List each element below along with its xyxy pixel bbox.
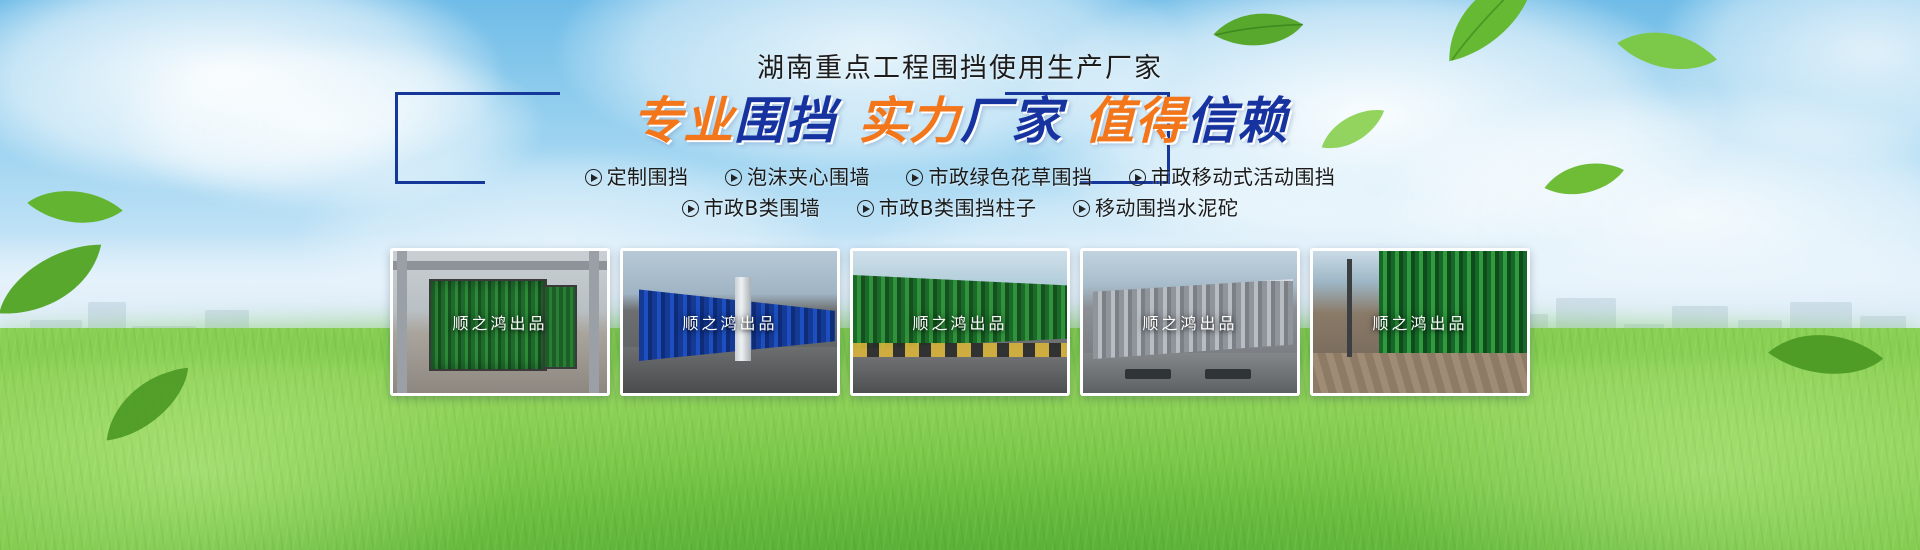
product-photo[interactable]: 顺之鸿出品 bbox=[1080, 248, 1300, 396]
feature-label: 泡沫夹心围墙 bbox=[747, 165, 870, 189]
photo-detail bbox=[735, 277, 751, 361]
product-photo[interactable]: 顺之鸿出品 bbox=[1310, 248, 1530, 396]
photo-detail bbox=[1125, 369, 1171, 379]
play-arrow-icon bbox=[857, 200, 874, 217]
headline-block: 湖南重点工程围挡使用生产厂家 专业围挡实力厂家值得信赖 定制围挡 泡沫夹心围墙 … bbox=[0, 40, 1920, 224]
photo-detail bbox=[589, 251, 599, 393]
play-arrow-icon bbox=[906, 169, 923, 186]
headline-segment-1: 专业 bbox=[632, 92, 734, 150]
product-photo[interactable]: 顺之鸿出品 bbox=[620, 248, 840, 396]
feature-label: 定制围挡 bbox=[607, 165, 689, 189]
photo-detail bbox=[1379, 251, 1527, 367]
feature-item[interactable]: 泡沫夹心围墙 bbox=[725, 162, 870, 193]
photo-detail bbox=[543, 285, 577, 369]
headline-segment-5: 值得 bbox=[1084, 92, 1186, 150]
feature-item[interactable]: 定制围挡 bbox=[585, 162, 689, 193]
product-photo-strip: 顺之鸿出品 顺之鸿出品 顺之鸿出品 顺之鸿出品 顺之鸿出品 bbox=[0, 248, 1920, 396]
feature-item[interactable]: 移动围挡水泥砣 bbox=[1073, 193, 1239, 224]
headline-segment-3: 实力 bbox=[858, 92, 960, 150]
feature-label: 市政B类围墙 bbox=[704, 196, 821, 220]
play-arrow-icon bbox=[585, 169, 602, 186]
play-arrow-icon bbox=[725, 169, 742, 186]
feature-item[interactable]: 市政绿色花草围挡 bbox=[906, 162, 1092, 193]
photo-detail bbox=[1347, 259, 1352, 357]
photo-detail bbox=[1093, 279, 1293, 359]
feature-item[interactable]: 市政移动式活动围挡 bbox=[1129, 162, 1336, 193]
photo-detail bbox=[1083, 353, 1297, 393]
feature-label: 市政B类围挡柱子 bbox=[879, 196, 1037, 220]
feature-item[interactable]: 市政B类围挡柱子 bbox=[857, 193, 1037, 224]
feature-row-1: 定制围挡 泡沫夹心围墙 市政绿色花草围挡 市政移动式活动围挡 bbox=[0, 162, 1920, 193]
feature-label: 市政绿色花草围挡 bbox=[928, 165, 1092, 189]
play-arrow-icon bbox=[1129, 169, 1146, 186]
photo-detail bbox=[397, 251, 407, 393]
photo-detail bbox=[429, 279, 547, 371]
photo-detail bbox=[853, 343, 1067, 357]
headline-segment-4: 厂家 bbox=[960, 92, 1062, 150]
play-arrow-icon bbox=[682, 200, 699, 217]
headline-segment-6: 信赖 bbox=[1186, 92, 1288, 150]
product-photo[interactable]: 顺之鸿出品 bbox=[850, 248, 1070, 396]
banner-headline: 专业围挡实力厂家值得信赖 bbox=[0, 92, 1920, 150]
feature-label: 移动围挡水泥砣 bbox=[1095, 196, 1239, 220]
feature-item[interactable]: 市政B类围墙 bbox=[682, 193, 821, 224]
photo-detail bbox=[1313, 353, 1527, 393]
promo-banner: 湖南重点工程围挡使用生产厂家 专业围挡实力厂家值得信赖 定制围挡 泡沫夹心围墙 … bbox=[0, 0, 1920, 550]
photo-detail bbox=[1205, 369, 1251, 379]
photo-detail bbox=[853, 275, 1067, 349]
banner-subtitle: 湖南重点工程围挡使用生产厂家 bbox=[0, 54, 1920, 84]
feature-label: 市政移动式活动围挡 bbox=[1151, 165, 1336, 189]
product-photo[interactable]: 顺之鸿出品 bbox=[390, 248, 610, 396]
photo-detail bbox=[393, 261, 607, 270]
feature-row-2: 市政B类围墙 市政B类围挡柱子 移动围挡水泥砣 bbox=[0, 193, 1920, 224]
headline-segment-2: 围挡 bbox=[734, 92, 836, 150]
play-arrow-icon bbox=[1073, 200, 1090, 217]
feature-list: 定制围挡 泡沫夹心围墙 市政绿色花草围挡 市政移动式活动围挡 市政B类围墙 市政… bbox=[0, 162, 1920, 224]
